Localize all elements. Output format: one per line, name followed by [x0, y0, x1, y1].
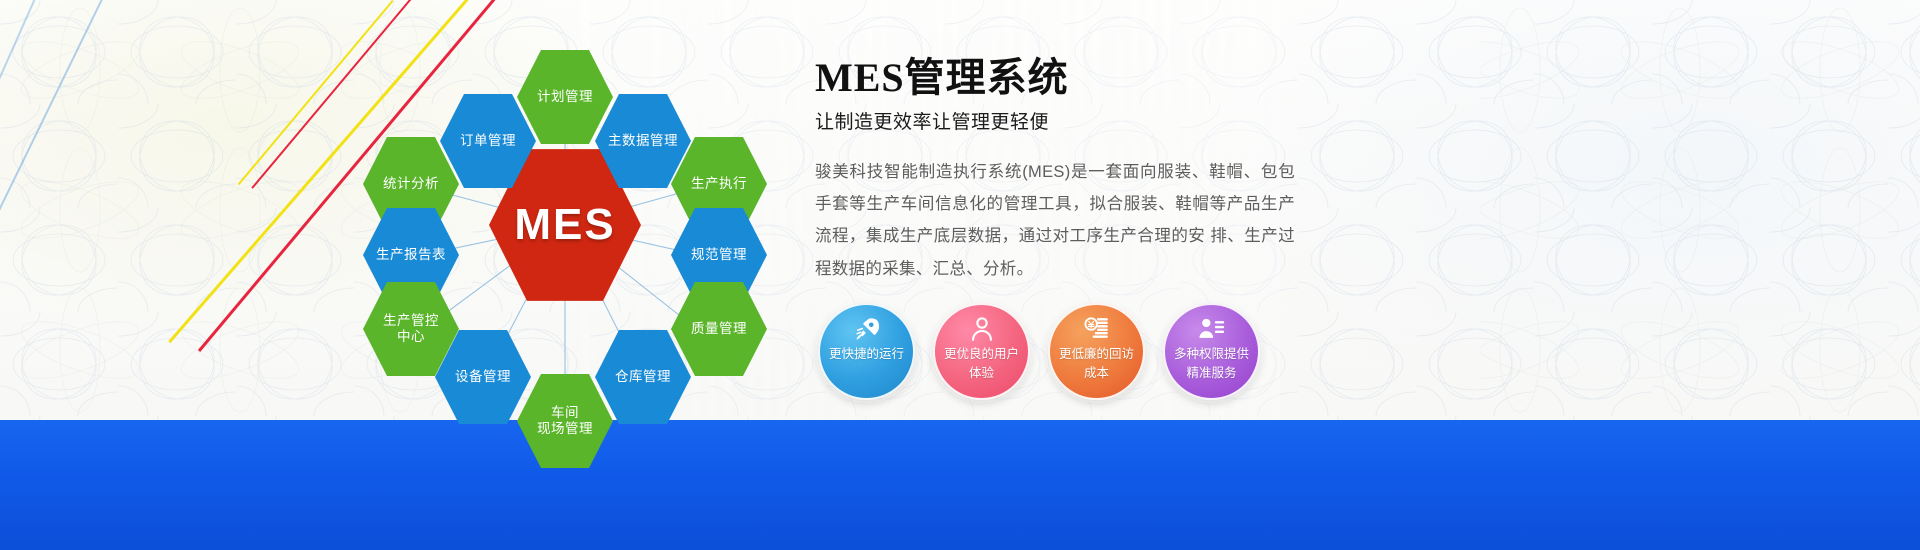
feature-badge-group: 更快捷的运行 更优良的用户 体验: [818, 303, 1278, 403]
background-bottom-band: [0, 420, 1920, 550]
user-icon: [969, 316, 995, 342]
feature-badge-better-user-experience[interactable]: 更优良的用户 体验: [933, 303, 1030, 400]
hex-label: 生产执行: [685, 176, 753, 192]
hex-label: 计划管理: [531, 89, 599, 105]
hex-label: 统计分析: [377, 176, 445, 192]
feature-badge-label: 更优良的用户 体验: [937, 345, 1026, 383]
hex-label: 主数据管理: [602, 133, 684, 149]
money-stack-icon: [1084, 316, 1110, 342]
hex-label: 订单管理: [454, 133, 522, 149]
feature-badge-permissions-precise-service[interactable]: 多种权限提供 精准服务: [1163, 303, 1260, 400]
rocket-icon: [854, 316, 880, 342]
mes-hexagon-diagram: MES 计划管理 订单管理 主数据管理 统计分析 生产执行 生产报告表 规范管理…: [330, 20, 800, 440]
feature-badge-label: 多种权限提供 精准服务: [1167, 345, 1256, 383]
hex-label: 规范管理: [685, 247, 753, 263]
hex-label: 车间 现场管理: [531, 405, 599, 436]
page-title: MES管理系统: [815, 55, 1295, 101]
banner-text-column: MES管理系统 让制造更效率让管理更轻便 骏美科技智能制造执行系统(MES)是一…: [815, 55, 1295, 285]
mes-banner: MES 计划管理 订单管理 主数据管理 统计分析 生产执行 生产报告表 规范管理…: [0, 0, 1920, 550]
hex-label: 设备管理: [449, 369, 517, 385]
feature-badge-lower-revisit-cost[interactable]: 更低廉的回访 成本: [1048, 303, 1145, 400]
page-description: 骏美科技智能制造执行系统(MES)是一套面向服装、鞋帽、包包手套等生产车间信息化…: [815, 156, 1295, 285]
feature-badge-label: 更快捷的运行: [822, 345, 911, 364]
feature-badge-label: 更低廉的回访 成本: [1052, 345, 1141, 383]
hex-node-center-label: MES: [508, 200, 621, 251]
permissions-icon: [1198, 316, 1225, 342]
hex-label: 仓库管理: [609, 369, 677, 385]
hex-label: 质量管理: [685, 321, 753, 337]
page-subtitle: 让制造更效率让管理更轻便: [815, 107, 1295, 134]
feature-badge-faster-operation[interactable]: 更快捷的运行: [818, 303, 915, 400]
hex-label: 生产报告表: [370, 247, 452, 263]
hex-label: 生产管控 中心: [377, 313, 445, 344]
